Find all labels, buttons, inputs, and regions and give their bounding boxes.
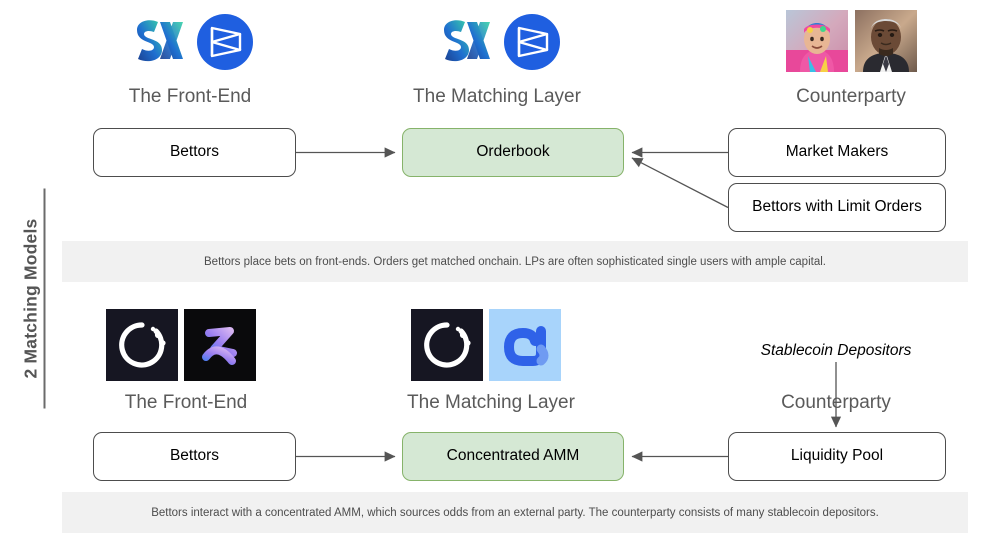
node-bettors-with-limit-orders[interactable]: Bettors with Limit Orders (728, 183, 946, 232)
polymarket-logo (411, 309, 483, 381)
counterparty-photo-one (786, 10, 848, 72)
column-header-front-end: The Front-End (86, 392, 286, 414)
node-concentrated-amm[interactable]: Concentrated AMM (402, 432, 624, 481)
page-title: 2 Matching Models (21, 189, 46, 409)
column-header-counterparty: Counterparty (756, 86, 946, 108)
arrow-limit-orders-to-orderbook (632, 158, 728, 208)
overtime-logo (184, 309, 256, 381)
node-bettors[interactable]: Bettors (93, 432, 296, 481)
azuro-protocol-logo (503, 13, 561, 71)
stablecoin-depositors-label: Stablecoin Depositors (736, 342, 936, 360)
caption-band-amm: Bettors interact with a concentrated AMM… (62, 492, 968, 533)
polymarket-logo (106, 309, 178, 381)
column-header-counterparty: Counterparty (736, 392, 936, 414)
azuro-protocol-logo (196, 13, 254, 71)
aevo-logo (489, 309, 561, 381)
column-header-matching-layer: The Matching Layer (391, 392, 591, 414)
node-orderbook[interactable]: Orderbook (402, 128, 624, 177)
node-bettors[interactable]: Bettors (93, 128, 296, 177)
node-market-makers[interactable]: Market Makers (728, 128, 946, 177)
counterparty-photo-two (855, 10, 917, 72)
diagram-canvas: 2 Matching Models (0, 0, 986, 554)
node-liquidity-pool[interactable]: Liquidity Pool (728, 432, 946, 481)
caption-band-orderbook: Bettors place bets on front-ends. Orders… (62, 241, 968, 282)
column-header-matching-layer: The Matching Layer (402, 86, 592, 108)
sx-bet-logo (434, 14, 496, 70)
sx-bet-logo (127, 14, 189, 70)
column-header-front-end: The Front-End (95, 86, 285, 108)
